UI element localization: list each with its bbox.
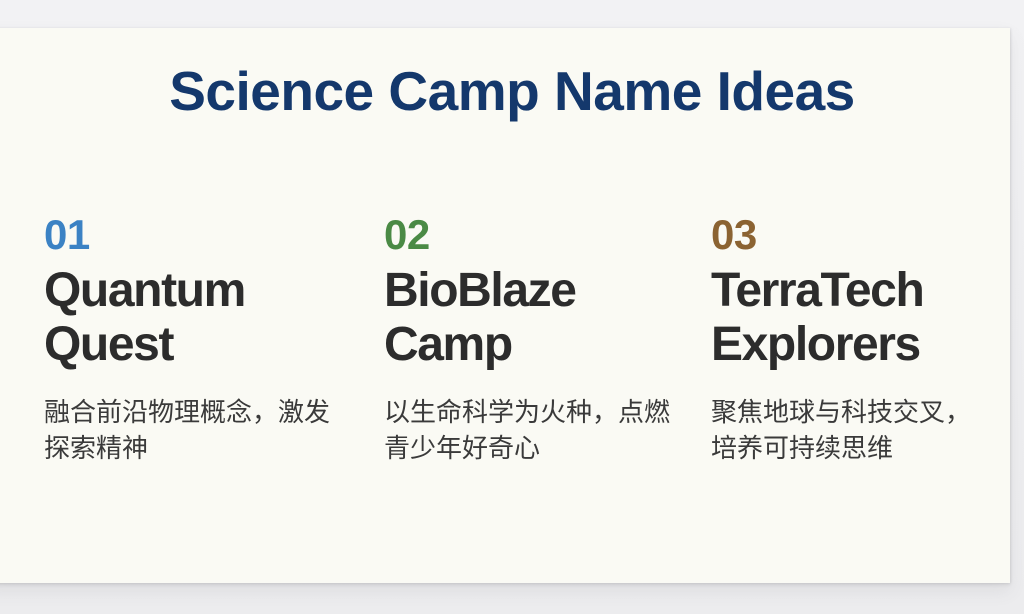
slide-title: Science Camp Name Ideas (0, 64, 1010, 119)
slide-card: Science Camp Name Ideas 01 Quantum Quest… (0, 28, 1010, 583)
idea-number-03: 03 (711, 214, 990, 256)
idea-card-03: 03 TerraTech Explorers 聚焦地球与科技交叉，培养可持续思维 (711, 214, 996, 467)
idea-description-03: 聚焦地球与科技交叉，培养可持续思维 (711, 394, 990, 468)
idea-card-02: 02 BioBlaze Camp 以生命科学为火种，点燃青少年好奇心 (384, 214, 711, 467)
idea-name-03: TerraTech Explorers (711, 264, 990, 372)
idea-number-02: 02 (384, 214, 673, 256)
idea-description-01: 融合前沿物理概念，激发探索精神 (44, 394, 346, 468)
idea-description-02: 以生命科学为火种，点燃青少年好奇心 (384, 394, 673, 468)
slide-content: Science Camp Name Ideas 01 Quantum Quest… (0, 28, 1010, 583)
idea-number-01: 01 (44, 214, 346, 256)
idea-card-01: 01 Quantum Quest 融合前沿物理概念，激发探索精神 (44, 214, 384, 467)
slide-stage: Science Camp Name Ideas 01 Quantum Quest… (0, 0, 1024, 614)
idea-name-02: BioBlaze Camp (384, 264, 673, 372)
idea-columns: 01 Quantum Quest 融合前沿物理概念，激发探索精神 02 BioB… (44, 214, 996, 467)
idea-name-01: Quantum Quest (44, 264, 346, 372)
